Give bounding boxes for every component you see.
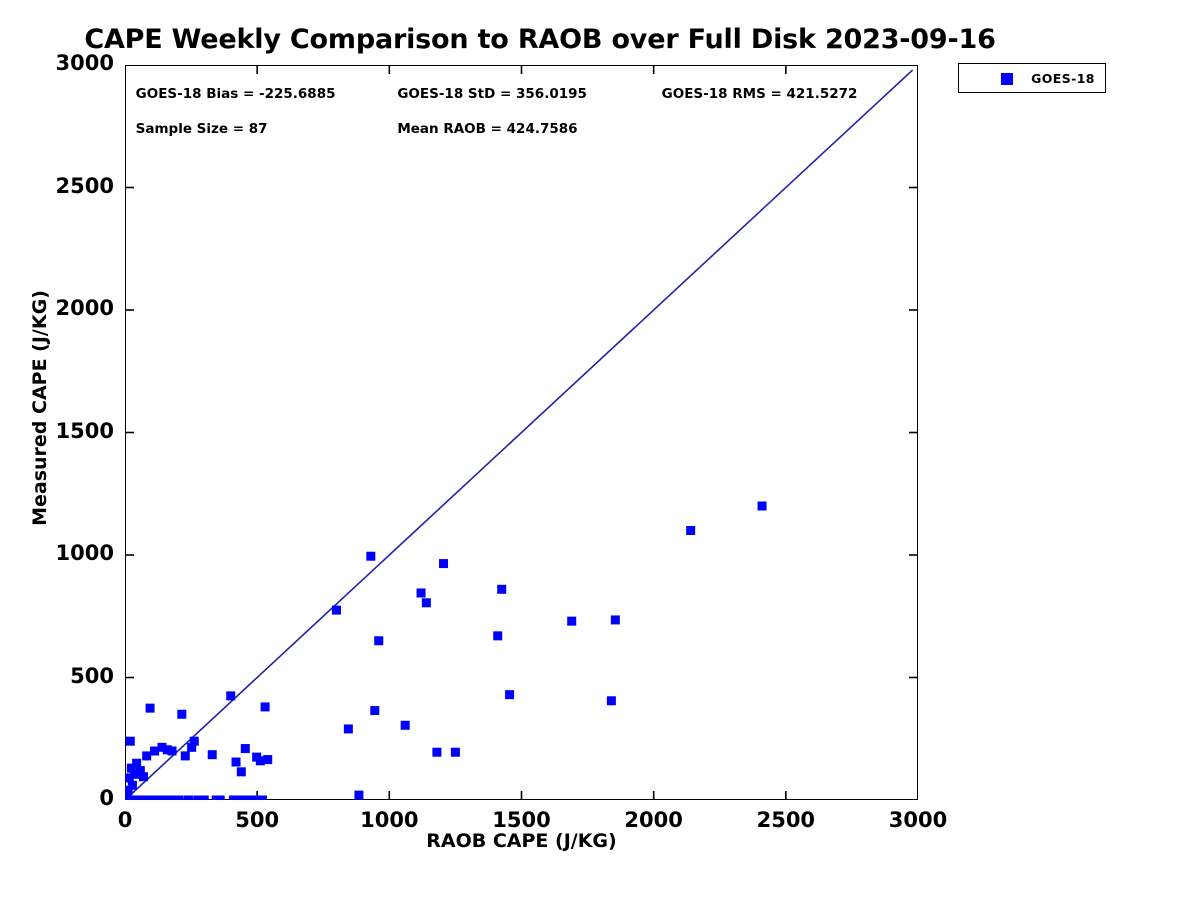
data-point <box>142 751 151 760</box>
data-point <box>263 755 272 764</box>
data-point <box>232 758 241 767</box>
y-tick-label: 500 <box>4 664 114 688</box>
data-point <box>432 748 441 757</box>
data-point <box>237 767 246 776</box>
data-point <box>607 696 616 705</box>
x-tick-label: 0 <box>65 808 185 832</box>
data-point <box>177 710 186 719</box>
data-point <box>401 721 410 730</box>
data-point <box>374 636 383 645</box>
legend-label-goes18: GOES-18 <box>1025 71 1101 86</box>
page-title: CAPE Weekly Comparison to RAOB over Full… <box>0 24 1080 55</box>
data-point <box>216 796 225 801</box>
data-point <box>366 552 375 561</box>
annotation-mean_raob: Mean RAOB = 424.7586 <box>397 121 577 137</box>
data-point <box>261 702 270 711</box>
data-point <box>611 615 620 624</box>
annotation-bias: GOES-18 Bias = -225.6885 <box>136 86 336 102</box>
data-point <box>497 585 506 594</box>
y-tick-label: 1000 <box>4 541 114 565</box>
data-point <box>139 772 148 781</box>
data-point <box>370 706 379 715</box>
data-point <box>686 526 695 535</box>
data-point <box>126 737 135 746</box>
chart-legend: GOES-18 <box>958 63 1106 93</box>
data-point <box>758 502 767 511</box>
data-point <box>190 737 199 746</box>
data-point <box>422 598 431 607</box>
data-point <box>332 606 341 615</box>
x-tick-label: 2000 <box>594 808 714 832</box>
data-point <box>258 796 267 801</box>
data-point <box>184 796 193 801</box>
scatter-plot-canvas <box>125 65 918 800</box>
data-point <box>493 631 502 640</box>
data-point <box>451 748 460 757</box>
data-point <box>181 751 190 760</box>
data-point <box>241 744 250 753</box>
one-to-one-reference-line <box>125 70 913 800</box>
x-axis-label: RAOB CAPE (J/KG) <box>125 830 918 852</box>
data-point <box>226 691 235 700</box>
annotation-rms: GOES-18 RMS = 421.5272 <box>662 86 858 102</box>
annotation-sample_size: Sample Size = 87 <box>136 121 268 137</box>
data-point <box>417 588 426 597</box>
data-point <box>200 796 209 801</box>
y-tick-label: 3000 <box>4 51 114 75</box>
data-point <box>128 781 137 790</box>
y-tick-label: 0 <box>4 786 114 810</box>
data-point <box>344 724 353 733</box>
chart-figure: CAPE Weekly Comparison to RAOB over Full… <box>0 0 1200 900</box>
y-tick-label: 1500 <box>4 419 114 443</box>
y-axis-label: Measured CAPE (J/KG) <box>29 228 51 588</box>
x-tick-label: 1000 <box>329 808 449 832</box>
data-point <box>567 617 576 626</box>
x-tick-label: 1500 <box>462 808 582 832</box>
data-point <box>146 704 155 713</box>
data-point <box>439 559 448 568</box>
data-point <box>168 747 177 756</box>
data-point <box>175 796 184 801</box>
x-tick-label: 500 <box>197 808 317 832</box>
legend-marker-swatch-goes18 <box>1001 73 1013 85</box>
y-tick-label: 2000 <box>4 296 114 320</box>
data-points-group <box>125 502 767 801</box>
data-point <box>208 750 217 759</box>
y-tick-label: 2500 <box>4 174 114 198</box>
x-tick-label: 2500 <box>726 808 846 832</box>
data-point <box>505 690 514 699</box>
annotation-std: GOES-18 StD = 356.0195 <box>397 86 587 102</box>
data-point <box>354 791 363 800</box>
x-tick-label: 3000 <box>858 808 978 832</box>
